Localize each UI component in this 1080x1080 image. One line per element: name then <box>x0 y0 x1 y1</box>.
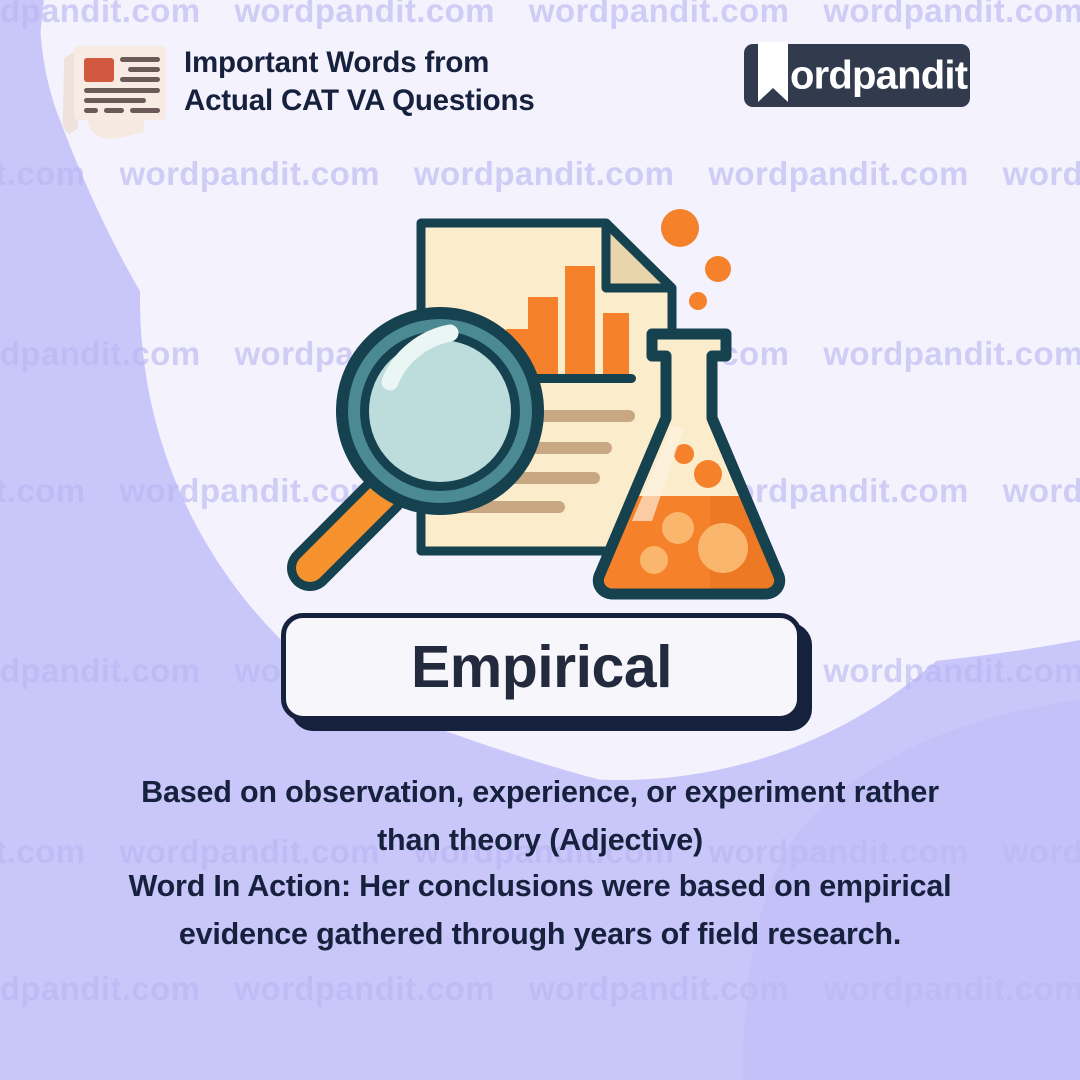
chart-bar <box>603 313 629 375</box>
usage-line-1: Word In Action: Her conclusions were bas… <box>40 862 1040 910</box>
word-title: Empirical <box>411 638 672 697</box>
air-bubble <box>694 460 722 488</box>
chart-bar <box>528 297 558 375</box>
bookmark-w-icon <box>756 40 790 106</box>
header-title-line2: Actual CAT VA Questions <box>184 82 535 120</box>
definition-line-2: than theory (Adjective) <box>40 816 1040 864</box>
header: Important Words from Actual CAT VA Quest… <box>0 0 1080 150</box>
liquid-bubble <box>662 512 694 544</box>
liquid-bubble <box>640 546 668 574</box>
word-card[interactable]: Empirical <box>281 613 802 721</box>
bubble-large-icon <box>661 209 699 247</box>
header-title-line1: Important Words from <box>184 44 535 82</box>
liquid-bubble <box>698 523 748 573</box>
definition-block: Based on observation, experience, or exp… <box>40 768 1040 864</box>
wordpandit-logo[interactable]: ordpandit <box>744 44 970 107</box>
chart-bar <box>565 266 595 375</box>
definition-line-1: Based on observation, experience, or exp… <box>40 768 1040 816</box>
usage-block: Word In Action: Her conclusions were bas… <box>40 862 1040 958</box>
bubble-medium-icon <box>705 256 731 282</box>
header-title: Important Words from Actual CAT VA Quest… <box>184 44 535 120</box>
research-illustration <box>280 196 810 616</box>
bubble-small-icon <box>689 292 707 310</box>
logo-text: ordpandit <box>790 53 967 98</box>
poster-canvas: wordpandit.comwordpandit.comwordpandit.c… <box>0 0 1080 1080</box>
usage-line-2: evidence gathered through years of field… <box>40 910 1040 958</box>
newspaper-icon <box>48 32 176 140</box>
